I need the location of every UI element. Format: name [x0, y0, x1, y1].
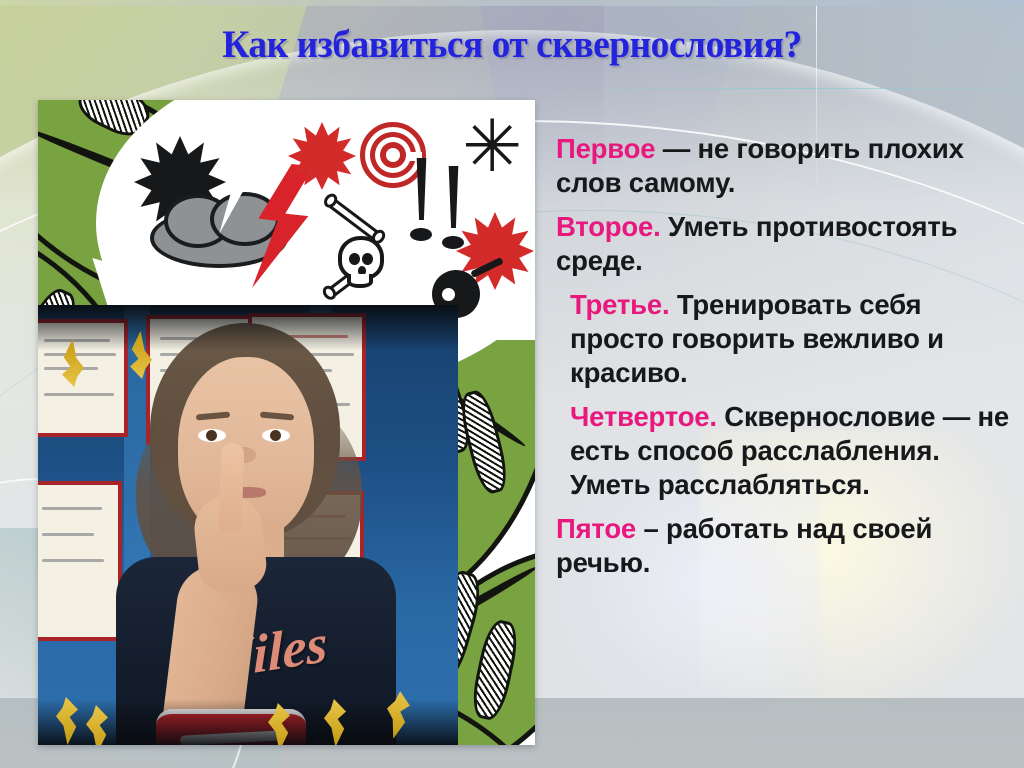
advice-item-4: Четвертое. Сквернословие — не есть спосо…	[556, 400, 1012, 503]
slide-illustration: ✳	[38, 100, 535, 745]
asterisk-icon: ✳	[462, 110, 522, 182]
advice-lead-2: Второе.	[556, 211, 661, 242]
exclamation-stem-1	[414, 158, 429, 220]
skull-and-crossbones-icon	[312, 196, 422, 306]
advice-lead-4: Четвертое.	[570, 401, 717, 432]
skull-eye-left	[349, 253, 360, 265]
poster-text-line	[42, 507, 102, 510]
advice-lead-1: Первое	[556, 133, 655, 164]
advice-lead-3: Третье.	[570, 289, 669, 320]
exclamation-dot-2	[442, 236, 464, 249]
exclamation-stem-2	[446, 166, 461, 228]
poster-text-line	[44, 393, 114, 396]
poster-text-line	[42, 559, 104, 562]
advice-list: Первое — не говорить плохих слов самому.…	[556, 132, 1012, 590]
advice-lead-5: Пятое	[556, 513, 636, 544]
girl-eye-left	[198, 429, 226, 442]
skull-eye-right	[362, 253, 373, 265]
page-title: Как избавиться от сквернословия?	[20, 22, 1003, 67]
background-horizontal-rule	[560, 88, 1024, 89]
girl-pupil-left	[206, 430, 217, 441]
girl-eye-right	[262, 429, 290, 442]
bomb-highlight	[442, 288, 455, 301]
photo-vignette-top	[38, 305, 458, 351]
poster-text-line	[44, 353, 116, 356]
exclamation-dot-1	[410, 228, 432, 241]
advice-item-3: Третье. Тренировать себя просто говорить…	[556, 288, 1012, 391]
advice-item-2: Второе. Уметь противостоять среде.	[556, 210, 1012, 279]
advice-item-1: Первое — не говорить плохих слов самому.	[556, 132, 1012, 201]
photo-girl-shh: Niles	[38, 305, 458, 745]
background-top-strip	[0, 0, 1024, 6]
girl-pupil-right	[270, 430, 281, 441]
poster-text-line	[42, 533, 94, 536]
bomb-fuse	[470, 257, 504, 278]
advice-item-5: Пятое – работать над своей речью.	[556, 512, 1012, 581]
noticeboard-poster-4	[38, 481, 122, 641]
girl-shh-finger	[218, 443, 244, 532]
skull-jaw	[347, 274, 373, 288]
presentation-slide: Как избавиться от сквернословия?	[0, 0, 1024, 768]
